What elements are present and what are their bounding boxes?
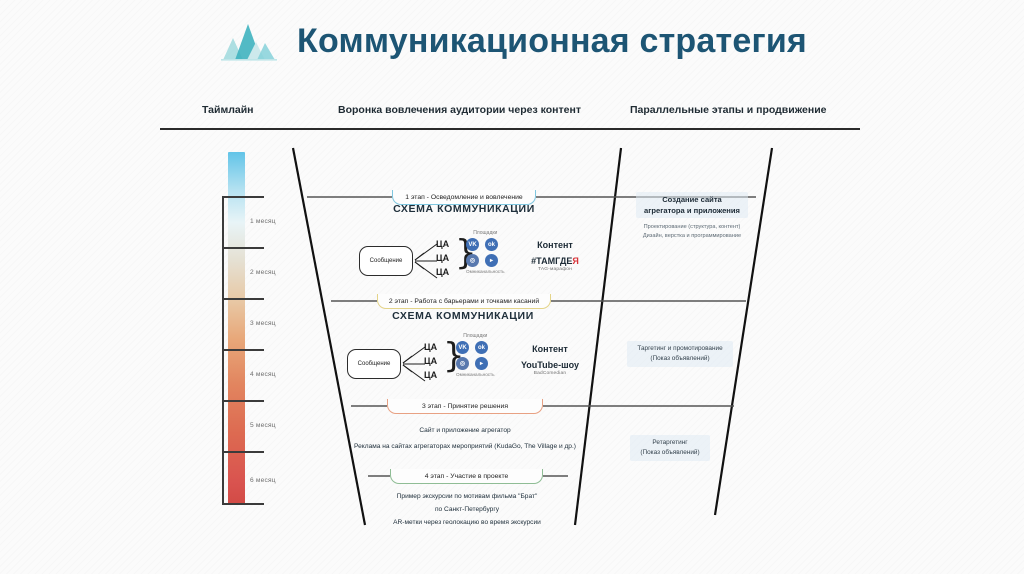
parallel-block-line2: (Показ объявлений)	[640, 449, 699, 456]
youtube-icon[interactable]: ▸	[475, 357, 488, 370]
timeline-tick-4	[222, 349, 264, 351]
instagram-icon[interactable]: ◎	[466, 254, 479, 267]
header-divider	[160, 128, 860, 130]
message-box-2: Сообщение	[347, 349, 401, 379]
hashtag-prefix: #ТАМГДЕ	[531, 256, 572, 266]
scheme-title-1: СХЕМА КОММУНИКАЦИИ	[393, 203, 535, 215]
parallel-block-line1: Таргетинг и промотирование	[637, 345, 722, 352]
parallel-block-text: Таргетинг и промотирование (Показ объявл…	[627, 341, 732, 367]
audience-item: ЦА	[424, 356, 437, 367]
column-header-timeline: Таймлайн	[202, 104, 254, 116]
parallel-block-targeting: Таргетинг и промотирование (Показ объявл…	[605, 341, 755, 367]
audience-list-1: ЦА ЦА ЦА	[436, 239, 449, 278]
youtube-icon[interactable]: ▸	[485, 254, 498, 267]
parallel-block-sub-line1: Проектирование (структура, контент)	[644, 224, 741, 230]
omnichannel-label: Омниканальность	[456, 372, 495, 377]
parallel-block-sub-line2: Дизайн, верстка и программирование	[643, 233, 741, 239]
audience-item: ЦА	[436, 253, 449, 264]
column-header-funnel: Воронка вовлечения аудитории через конте…	[338, 104, 581, 116]
parallel-block-line2: (Показ объявлений)	[650, 355, 709, 362]
parallel-block-title: Создание сайта агрегатора и приложения	[636, 192, 748, 218]
stage3-line1: Сайт и приложение агрегатор	[355, 424, 575, 437]
vk-icon[interactable]: VK	[466, 238, 479, 251]
content-group-2: Контент YouTube-шоу BadComedian	[508, 344, 592, 376]
message-box-1: Сообщение	[359, 246, 413, 276]
audience-item: ЦА	[424, 370, 437, 381]
stage4-line3: AR-метки через геолокацию во время экску…	[348, 516, 586, 529]
page-header: Коммуникационная стратегия	[0, 16, 1024, 66]
parallel-block-title-line1: Создание сайта	[662, 195, 722, 204]
audience-item: ЦА	[424, 342, 437, 353]
timeline-month-1: 1 месяц	[250, 218, 276, 225]
stage-banner-3[interactable]: 3 этап - Принятие решения	[387, 399, 543, 414]
content-subtitle: BadComedian	[508, 371, 592, 376]
stage-banner-2[interactable]: 2 этап - Работа с барьерами и точками ка…	[377, 294, 551, 309]
parallel-block-text: Ретаргетинг (Показ объявлений)	[630, 435, 709, 461]
timeline-tick-1	[222, 196, 264, 198]
omnichannel-label: Омниканальность	[466, 269, 505, 274]
platforms-group-1: Площадки VK ok ◎ ▸ Омниканальность	[466, 230, 505, 274]
timeline-month-3: 3 месяц	[250, 320, 276, 327]
parallel-block-retargeting: Ретаргетинг (Показ объявлений)	[600, 435, 740, 461]
content-main: YouTube-шоу	[508, 360, 592, 370]
scheme-title-2: СХЕМА КОММУНИКАЦИИ	[387, 310, 539, 322]
content-hashtag: #ТАМГДЕЯ	[518, 256, 592, 266]
timeline-tick-6	[222, 451, 264, 453]
timeline-month-4: 4 месяц	[250, 371, 276, 378]
parallel-block-site-creation: Создание сайта агрегатора и приложения П…	[612, 192, 772, 241]
audience-item: ЦА	[436, 267, 449, 278]
ok-icon[interactable]: ok	[475, 341, 488, 354]
parallel-block-line1: Ретаргетинг	[652, 439, 687, 446]
stage4-line1: Пример экскурсии по мотивам фильма "Брат…	[355, 490, 579, 503]
column-headers: Таймлайн Воронка вовлечения аудитории че…	[160, 104, 860, 126]
column-header-parallel: Параллельные этапы и продвижение	[630, 104, 827, 116]
timeline-month-6: 6 месяц	[250, 477, 276, 484]
funnel-lines	[0, 0, 1024, 574]
stage3-line2: Реклама на сайтах агрегаторах мероприяти…	[340, 440, 590, 453]
content-subtitle: TAG-марафон	[518, 267, 592, 272]
content-heading: Контент	[508, 344, 592, 354]
timeline-tick-3	[222, 298, 264, 300]
stage4-line2: по Санкт-Петербургу	[355, 503, 579, 516]
content-group-1: Контент #ТАМГДЕЯ TAG-марафон	[518, 240, 592, 272]
platforms-group-2: Площадки VK ok ◎ ▸ Омниканальность	[456, 333, 495, 377]
timeline-tick-2	[222, 247, 264, 249]
timeline-tick-5	[222, 400, 264, 402]
page-title: Коммуникационная стратегия	[297, 22, 807, 61]
timeline-month-2: 2 месяц	[250, 269, 276, 276]
instagram-icon[interactable]: ◎	[456, 357, 469, 370]
timeline-tick-end	[222, 503, 264, 505]
vk-icon[interactable]: VK	[456, 341, 469, 354]
ok-icon[interactable]: ok	[485, 238, 498, 251]
timeline-month-5: 5 месяц	[250, 422, 276, 429]
stage-banner-4[interactable]: 4 этап - Участие в проекте	[390, 469, 543, 484]
audience-list-2: ЦА ЦА ЦА	[424, 342, 437, 381]
parallel-block-title-line2: агрегатора и приложения	[644, 206, 740, 215]
platforms-caption: Площадки	[466, 230, 505, 236]
parallel-block-sub: Проектирование (структура, контент) Диза…	[612, 223, 772, 241]
content-heading: Контент	[518, 240, 592, 250]
platforms-caption: Площадки	[456, 333, 495, 339]
audience-item: ЦА	[436, 239, 449, 250]
mountain-logo-icon	[217, 16, 283, 66]
hashtag-accent: Я	[572, 256, 578, 266]
